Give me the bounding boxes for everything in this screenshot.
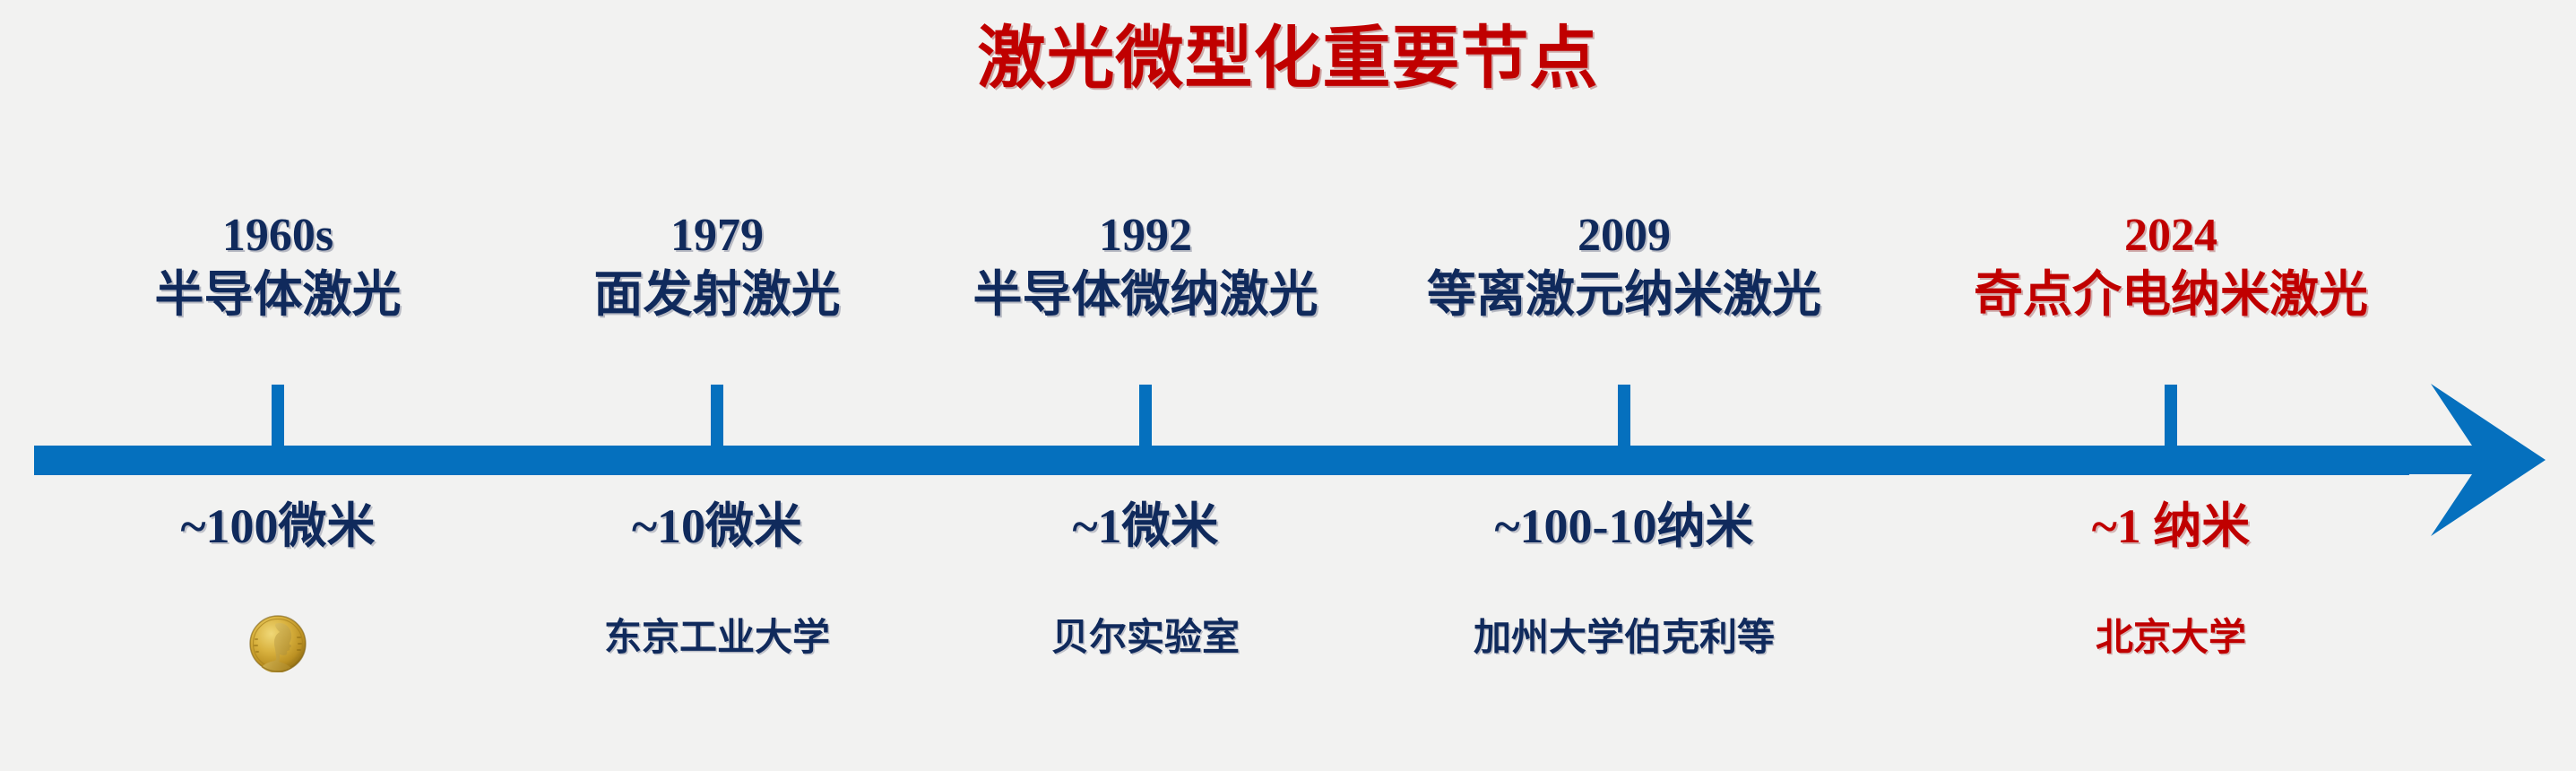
node-institution-2009: 加州大学伯克利等	[1474, 611, 1775, 663]
timeline-node-2024[interactable]: 2024 奇点介电纳米激光	[1974, 211, 2368, 327]
timeline-tick	[1618, 385, 1630, 447]
node-name: 面发射激光	[593, 261, 840, 327]
timeline-tick	[2165, 385, 2177, 447]
timeline-node-1979[interactable]: 1979 面发射激光	[593, 211, 840, 327]
arrow-right-icon	[2375, 384, 2546, 536]
timeline-tick	[272, 385, 284, 447]
node-institution-1979: 东京工业大学	[604, 611, 830, 663]
timeline-tick	[711, 385, 723, 447]
timeline-node-1960s[interactable]: 1960s 半导体激光	[154, 211, 401, 327]
page-title: 激光微型化重要节点	[0, 16, 2576, 102]
timeline-node-1992[interactable]: 1992 半导体微纳激光	[972, 211, 1318, 327]
node-year: 2024	[1974, 211, 2368, 261]
node-name: 奇点介电纳米激光	[1974, 261, 2368, 327]
node-scale-2024: ~1 纳米	[2092, 496, 2251, 557]
node-institution-1992: 贝尔实验室	[1051, 611, 1240, 663]
timeline-tick	[1139, 385, 1152, 447]
node-institution-2024: 北京大学	[2096, 611, 2246, 663]
node-year: 1960s	[154, 211, 401, 261]
node-name: 等离激元纳米激光	[1427, 261, 1821, 327]
node-name: 半导体微纳激光	[972, 261, 1318, 327]
timeline-node-2009[interactable]: 2009 等离激元纳米激光	[1427, 211, 1821, 327]
node-scale-1960s: ~100微米	[180, 496, 375, 557]
timeline-bar	[34, 446, 2409, 475]
nobel-prize-medal-icon	[249, 615, 307, 672]
node-year: 1992	[972, 211, 1318, 261]
node-scale-1992: ~1微米	[1072, 496, 1218, 557]
node-year: 2009	[1427, 211, 1821, 261]
node-year: 1979	[593, 211, 840, 261]
timeline-slide: 激光微型化重要节点 1960s 半导体激光 1979 面发射激光 1992 半导…	[0, 0, 2576, 771]
node-scale-1979: ~10微米	[632, 496, 802, 557]
node-scale-2009: ~100-10纳米	[1494, 496, 1753, 557]
node-name: 半导体激光	[154, 261, 401, 327]
